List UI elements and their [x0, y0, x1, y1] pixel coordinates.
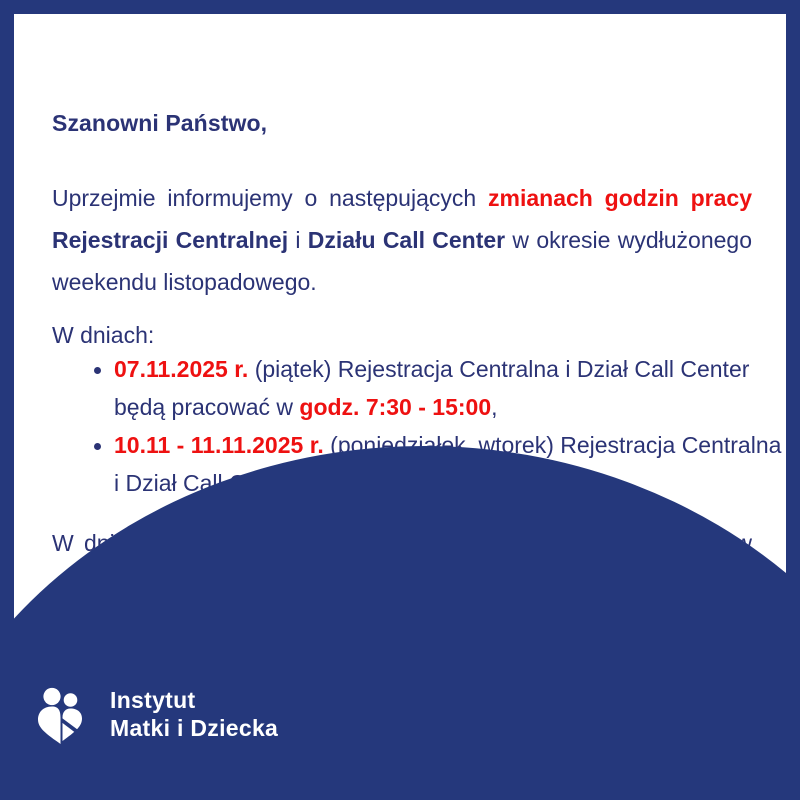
poster-card: Szanowni Państwo, Uprzejmie informujemy …: [14, 14, 786, 786]
announcement-poster: Szanowni Państwo, Uprzejmie informujemy …: [0, 0, 800, 800]
intro-dept-call-center: Działu Call Center: [308, 227, 505, 253]
intro-seg-conj: i: [288, 227, 308, 253]
heart-with-two-figures-icon: [36, 684, 94, 744]
intro-highlight-hours-change: zmianach godzin pracy: [488, 185, 752, 211]
intro-paragraph: Uprzejmie informujemy o następujących zm…: [52, 177, 752, 303]
greeting-text: Szanowni Państwo,: [52, 110, 267, 137]
day-date-1: 07.11.2025 r.: [114, 356, 248, 382]
logo-line-1: Instytut: [110, 686, 278, 714]
day-date-2: 10.11 - 11.11.2025 r.: [114, 432, 324, 458]
day-hours-1: godz. 7:30 - 15:00: [299, 394, 491, 420]
intro-seg-1: Uprzejmie informujemy o następujących: [52, 185, 488, 211]
list-item: 07.11.2025 r. (piątek) Rejestracja Centr…: [114, 350, 786, 426]
logo-wordmark: Instytut Matki i Dziecka: [110, 686, 278, 742]
institute-logo: Instytut Matki i Dziecka: [36, 684, 278, 744]
day-text-1b: ,: [491, 394, 497, 420]
intro-dept-registration: Rejestracji Centralnej: [52, 227, 288, 253]
logo-line-2: Matki i Dziecka: [110, 714, 278, 742]
